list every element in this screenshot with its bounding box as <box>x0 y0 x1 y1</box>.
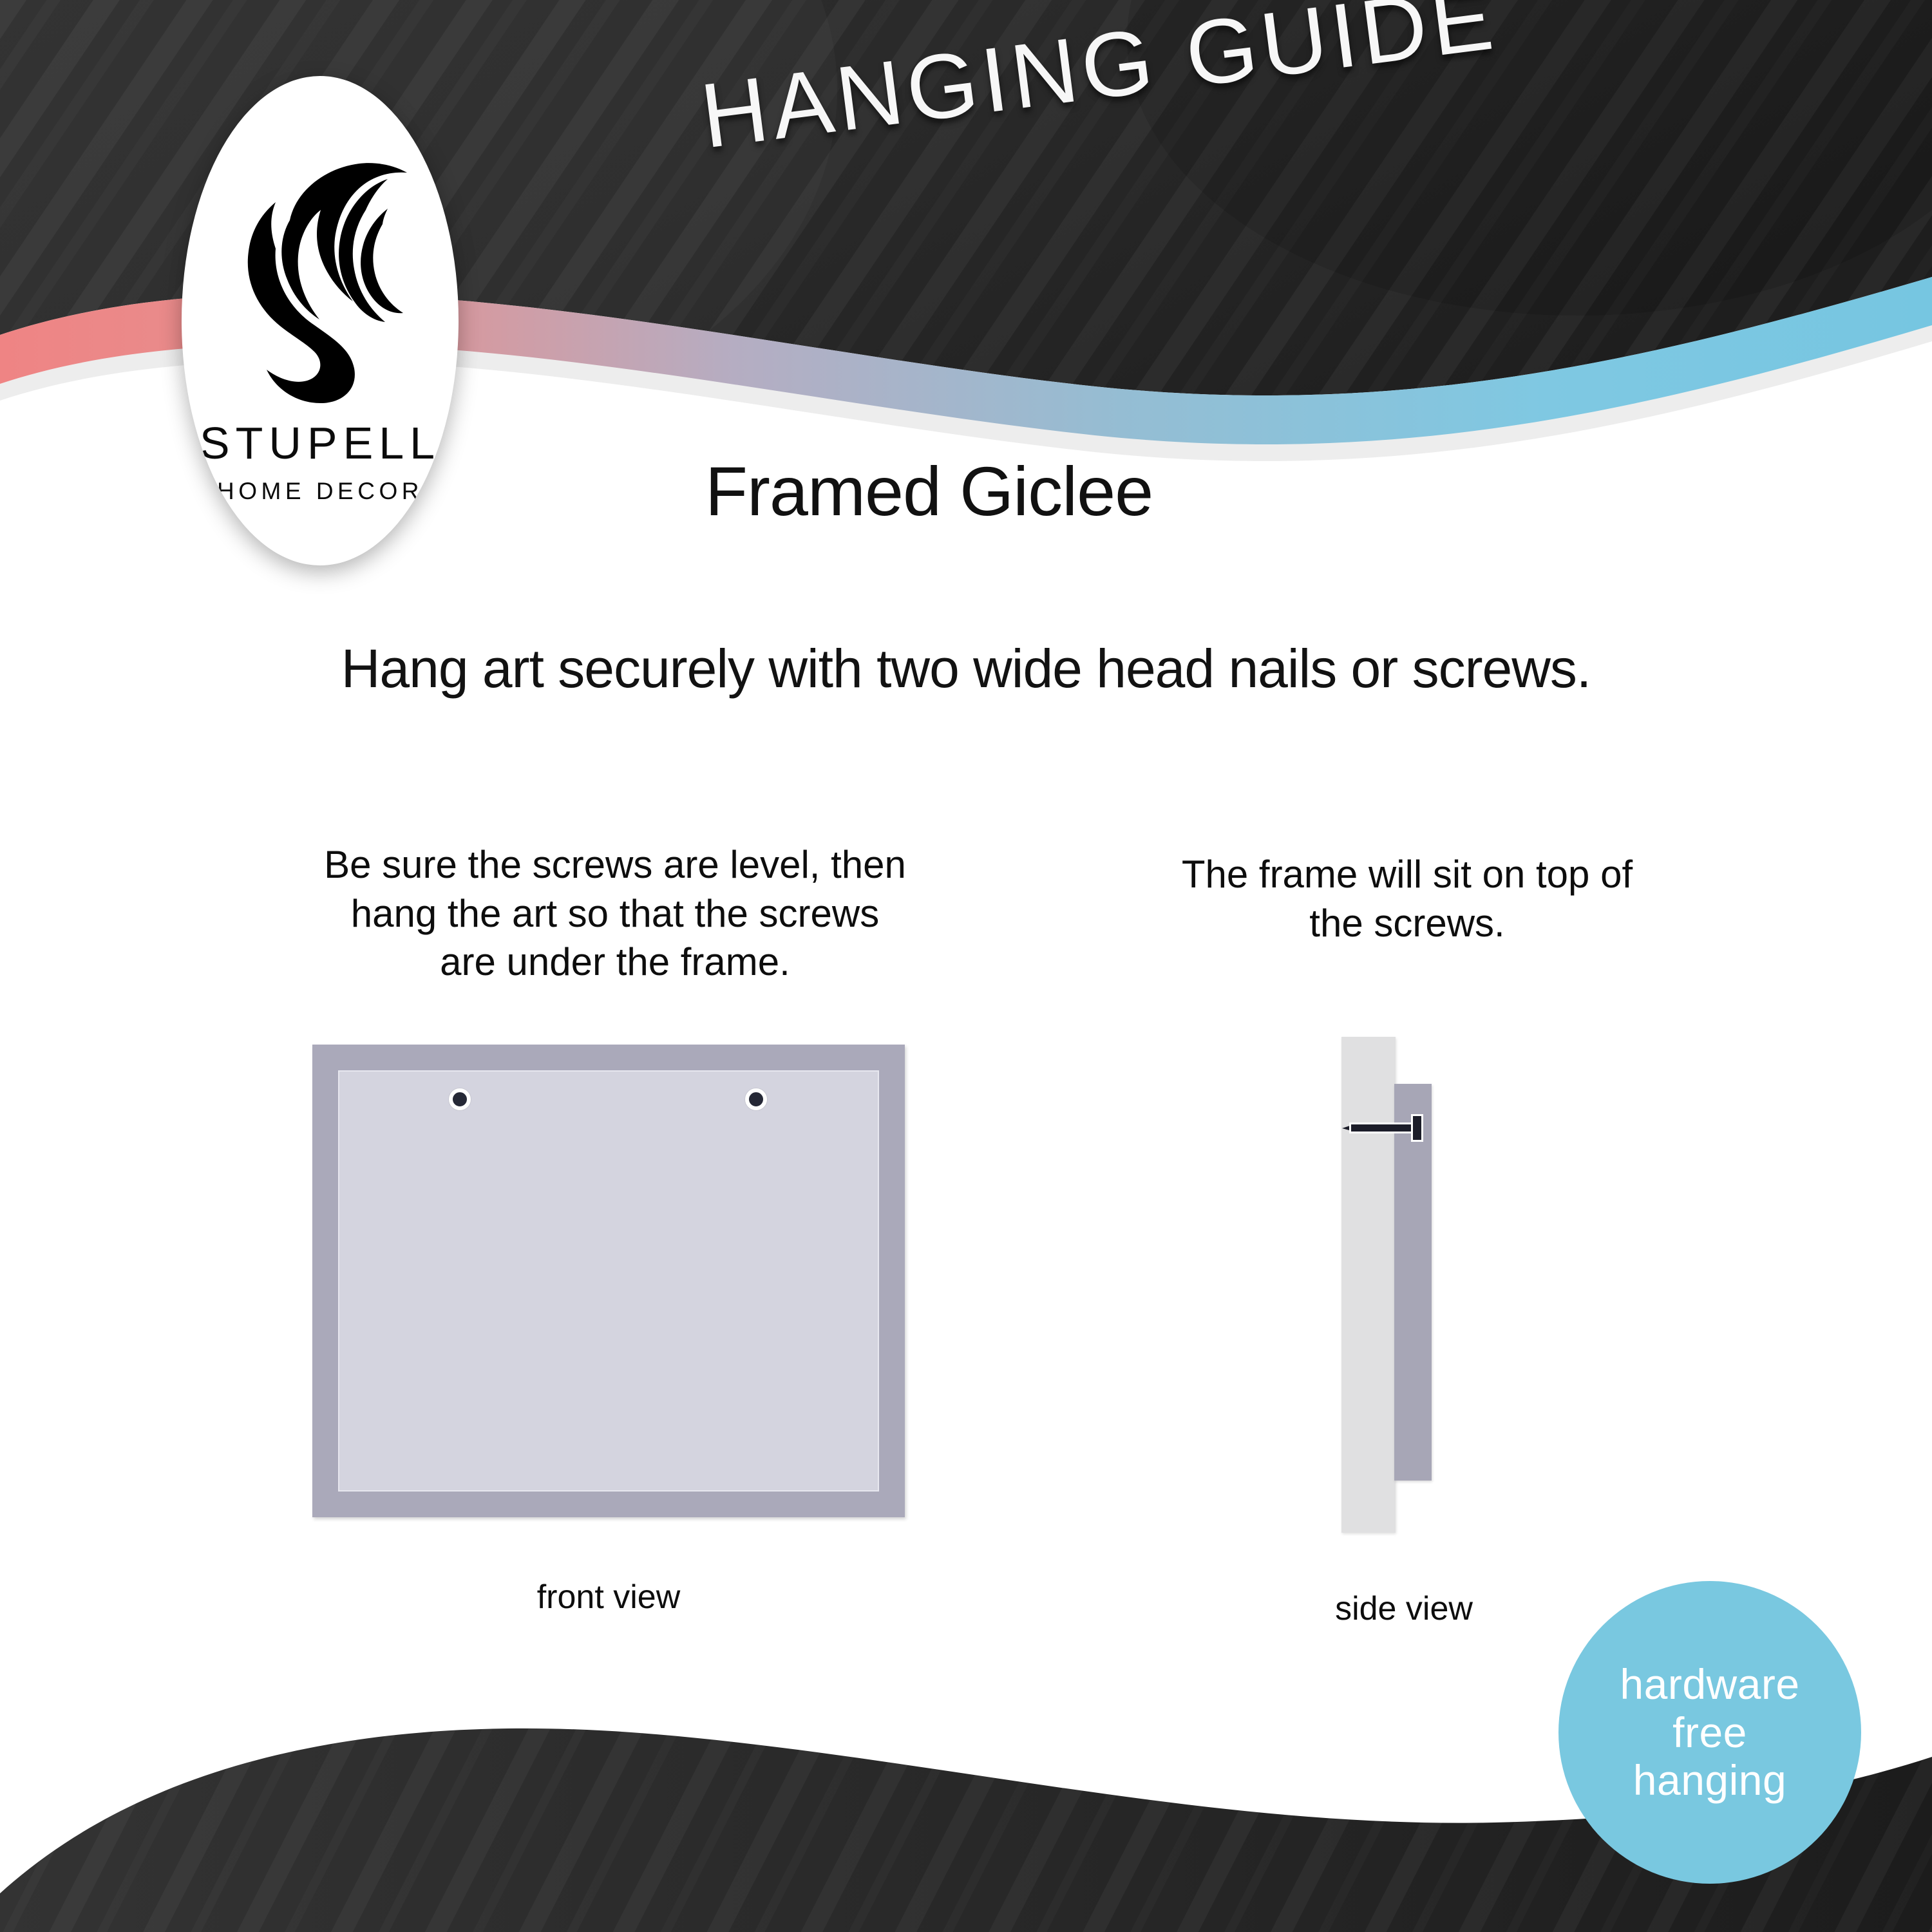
front-view-caption: Be sure the screws are level, then hang … <box>322 840 908 987</box>
nail-shaft-icon <box>1351 1124 1418 1132</box>
side-view-diagram <box>1327 1030 1520 1539</box>
badge-line-1: hardware <box>1620 1660 1799 1709</box>
front-view-diagram <box>312 1045 905 1517</box>
side-view-label: side view <box>1224 1589 1584 1628</box>
badge-line-3: hanging <box>1633 1756 1786 1804</box>
front-view-label: front view <box>377 1578 840 1616</box>
badge-line-2: free <box>1672 1709 1747 1757</box>
side-view-caption: The frame will sit on top of the screws. <box>1153 850 1662 947</box>
hanging-guide-page: STUPELL HOME DECOR HANGING GUIDE Framed … <box>0 0 1932 1932</box>
side-view-wall <box>1341 1037 1396 1533</box>
brand-logo-badge: STUPELL HOME DECOR <box>182 76 459 565</box>
page-title: HANGING GUIDE <box>696 0 1795 169</box>
stupell-swan-s-icon <box>214 148 426 406</box>
logo-tagline-text: HOME DECOR <box>217 478 423 505</box>
hardware-free-hanging-badge: hardware free hanging <box>1558 1581 1861 1884</box>
logo-brand-text: STUPELL <box>200 417 440 469</box>
nail-head-icon <box>1413 1116 1421 1140</box>
lead-instruction: Hang art securely with two wide head nai… <box>0 638 1932 700</box>
product-type-heading: Framed Giclee <box>705 451 1153 531</box>
front-view-art-panel <box>338 1070 879 1492</box>
screw-dot-right <box>745 1088 767 1110</box>
screw-dot-left <box>449 1088 471 1110</box>
side-view-frame <box>1394 1084 1432 1481</box>
